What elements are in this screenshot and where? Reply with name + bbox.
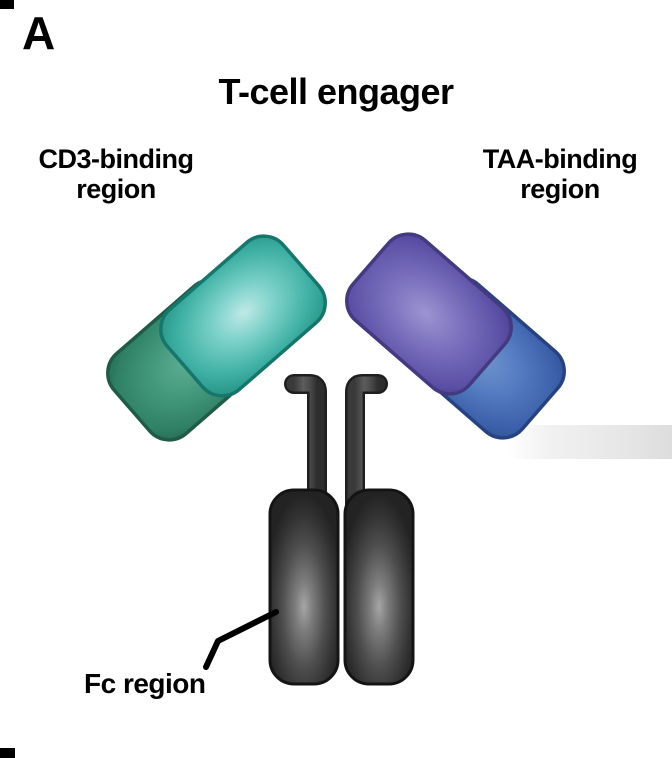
label-cd3-binding-region: CD3-binding region	[0, 144, 232, 204]
antibody-schematic-graphic	[0, 0, 672, 758]
cd3-binding-region-group	[97, 225, 336, 450]
hinge-stem-left	[290, 380, 318, 506]
corner-mark-topleft	[0, 0, 14, 9]
figure-panel-a: A T-cell engager CD3-binding region TAA-…	[0, 0, 672, 758]
fc-lobe-right	[345, 490, 413, 684]
panel-letter: A	[22, 8, 55, 60]
figure-title: T-cell engager	[0, 72, 672, 112]
hinge-stem-right	[355, 384, 378, 506]
fc-leader-line	[206, 612, 276, 667]
fc-region-group	[270, 490, 413, 684]
corner-mark-bottomleft	[0, 748, 15, 758]
taa-binding-region-group	[336, 223, 575, 448]
right-edge-band	[508, 425, 672, 459]
label-taa-binding-region: TAA-binding region	[444, 144, 672, 204]
fc-lobe-left	[270, 490, 338, 684]
label-fc-region: Fc region	[84, 668, 206, 699]
